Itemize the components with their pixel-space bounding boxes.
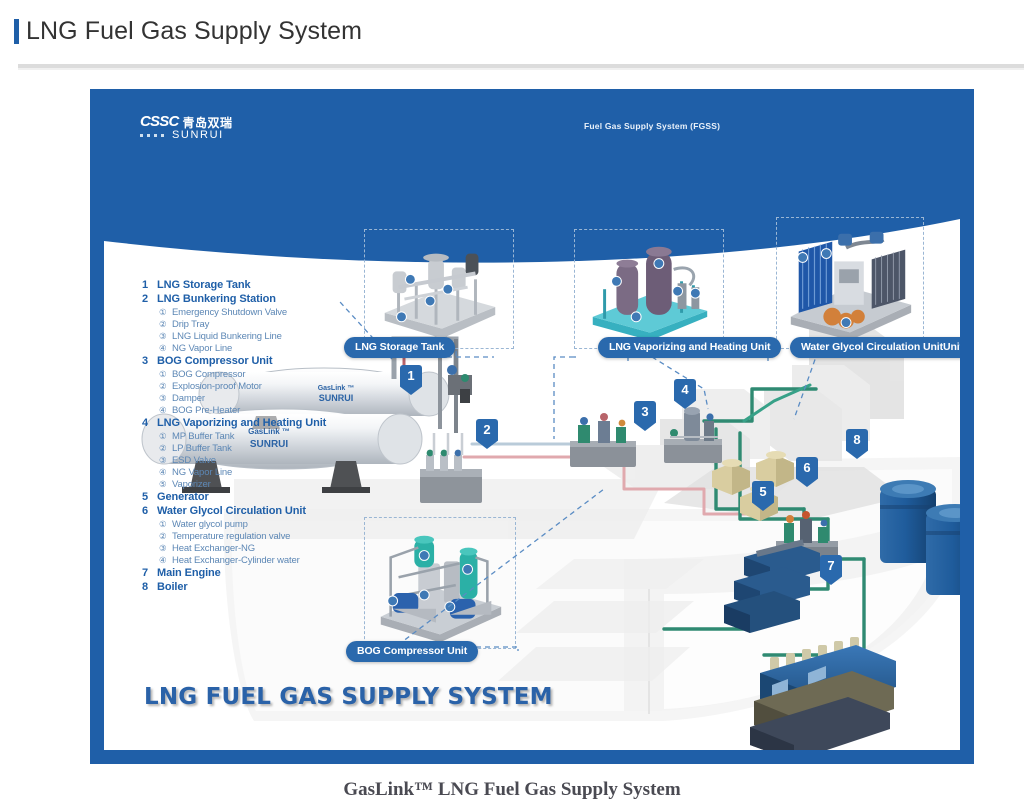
legend-sub-label: Drip Tray (172, 319, 209, 330)
header-divider-secondary (18, 68, 1024, 70)
photo-box-water-glycol-unit (776, 217, 924, 349)
water-glycol-unit-illustration (777, 218, 923, 348)
legend-sub-label: LP Buffer Tank (172, 443, 232, 454)
legend-sub-label: Explosion-proof Motor (172, 381, 262, 392)
legend-number: 6 (142, 505, 157, 517)
legend-label: LNG Vaporizing and Heating Unit (157, 417, 326, 429)
legend-subitem: ③ ESD Valve (159, 455, 362, 466)
legend-sub-label: Heat Exchanger-Cylinder water (172, 555, 300, 566)
legend-subitem: ④ BOG Pre-Heater (159, 405, 362, 416)
legend-sub-number: ③ (159, 455, 172, 466)
legend-list: 1 LNG Storage Tank 2 LNG Bunkering Stati… (142, 279, 362, 595)
legend-sub-number: ② (159, 443, 172, 454)
legend-sub-label: BOG Pre-Heater (172, 405, 240, 416)
legend-sub-label: Water glycol pump (172, 519, 248, 530)
legend-subitem: ① Water glycol pump (159, 519, 362, 530)
legend-item-5: 5 Generator (142, 491, 362, 503)
legend-subitem: ① Emergency Shutdown Valve (159, 307, 362, 318)
legend-label: Main Engine (157, 567, 221, 579)
legend-label: BOG Compressor Unit (157, 355, 272, 367)
legend-subitem: ① BOG Compressor (159, 369, 362, 380)
legend-item-2: 2 LNG Bunkering Station (142, 293, 362, 305)
legend-label: Boiler (157, 581, 188, 593)
legend-sub-label: NG Vapor Line (172, 343, 232, 354)
legend-sub-label: LNG Liquid Bunkering Line (172, 331, 282, 342)
legend-item-6: 6 Water Glycol Circulation Unit (142, 505, 362, 517)
legend-sub-label: Damper (172, 393, 205, 404)
legend-sub-number: ② (159, 319, 172, 330)
legend-number: 2 (142, 293, 157, 305)
legend-subitem: ④ NG Vapor Line (159, 467, 362, 478)
legend-number: 1 (142, 279, 157, 291)
page-title: LNG Fuel Gas Supply System (26, 17, 362, 46)
legend-subitem: ③ Damper (159, 393, 362, 404)
legend-subitem: ② Temperature regulation valve (159, 531, 362, 542)
poster-bottom-title: LNG FUEL GAS SUPPLY SYSTEM (144, 684, 553, 710)
lng-storage-tank-illustration (365, 230, 513, 348)
legend-item-4: 4 LNG Vaporizing and Heating Unit (142, 417, 362, 429)
photo-box-lng-storage-tank (364, 229, 514, 349)
legend-subitem: ② LP Buffer Tank (159, 443, 362, 454)
legend-sub-label: NG Vapor Line (172, 467, 232, 478)
legend-sub-number: ③ (159, 393, 172, 404)
callout-bog-compressor-unit[interactable]: BOG Compressor Unit (346, 641, 478, 662)
legend-number: 7 (142, 567, 157, 579)
callout-water-glycol-circulation-unit[interactable]: Water Glycol Circulation UnitUnit (790, 337, 960, 358)
legend-sub-number: ② (159, 531, 172, 542)
legend-sub-number: ① (159, 369, 172, 380)
legend-number: 4 (142, 417, 157, 429)
legend-label: LNG Storage Tank (157, 279, 251, 291)
legend-number: 3 (142, 355, 157, 367)
legend-item-3: 3 BOG Compressor Unit (142, 355, 362, 367)
legend-subitem: ② Explosion-proof Motor (159, 381, 362, 392)
photo-box-bog-compressor-unit (364, 517, 516, 649)
legend-label: Water Glycol Circulation Unit (157, 505, 306, 517)
legend-sub-label: Temperature regulation valve (172, 531, 290, 542)
legend-sub-label: Vaporizer (172, 479, 211, 490)
poster-inner-page: CSSC 青岛双瑞 SUNRUI Fuel Gas Supply System … (104, 89, 960, 750)
legend-sub-number: ③ (159, 331, 172, 342)
figure-caption: GasLink™ LNG Fuel Gas Supply System (0, 779, 1024, 801)
legend-subitem: ⑤ Vaporizer (159, 479, 362, 490)
legend-sub-number: ④ (159, 555, 172, 566)
legend-subitem: ④ NG Vapor Line (159, 343, 362, 354)
legend-subitem: ③ Heat Exchanger-NG (159, 543, 362, 554)
callout-lng-vaporizing-heating-unit[interactable]: LNG Vaporizing and Heating Unit (598, 337, 781, 358)
legend-sub-number: ④ (159, 343, 172, 354)
legend-subitem: ① MP Buffer Tank (159, 431, 362, 442)
legend-label: LNG Bunkering Station (157, 293, 276, 305)
bog-compressor-illustration (365, 518, 515, 648)
page-header: LNG Fuel Gas Supply System (0, 0, 1024, 62)
legend-sub-label: MP Buffer Tank (172, 431, 234, 442)
bog-compressor-skid (570, 413, 636, 467)
legend-sub-number: ② (159, 381, 172, 392)
legend-subitem: ④ Heat Exchanger-Cylinder water (159, 555, 362, 566)
legend-sub-number: ① (159, 307, 172, 318)
legend-sub-label: Emergency Shutdown Valve (172, 307, 287, 318)
legend-item-7: 7 Main Engine (142, 567, 362, 579)
legend-item-8: 8 Boiler (142, 581, 362, 593)
legend-number: 5 (142, 491, 157, 503)
legend-sub-label: Heat Exchanger-NG (172, 543, 255, 554)
title-accent-bar (14, 19, 19, 44)
legend-subitem: ② Drip Tray (159, 319, 362, 330)
legend-sub-label: ESD Valve (172, 455, 216, 466)
legend-label: Generator (157, 491, 209, 503)
legend-sub-number: ⑤ (159, 479, 172, 490)
legend-number: 8 (142, 581, 157, 593)
legend-sub-number: ① (159, 519, 172, 530)
legend-sub-number: ① (159, 431, 172, 442)
legend-sub-number: ③ (159, 543, 172, 554)
legend-item-1: 1 LNG Storage Tank (142, 279, 362, 291)
photo-box-vaporizing-heating-unit (574, 229, 724, 349)
vaporizing-heating-illustration (575, 230, 723, 348)
legend-sub-label: BOG Compressor (172, 369, 245, 380)
legend-sub-number: ④ (159, 467, 172, 478)
legend-sub-number: ④ (159, 405, 172, 416)
legend-subitem: ③ LNG Liquid Bunkering Line (159, 331, 362, 342)
diagram-poster: CSSC 青岛双瑞 SUNRUI Fuel Gas Supply System … (90, 89, 974, 764)
